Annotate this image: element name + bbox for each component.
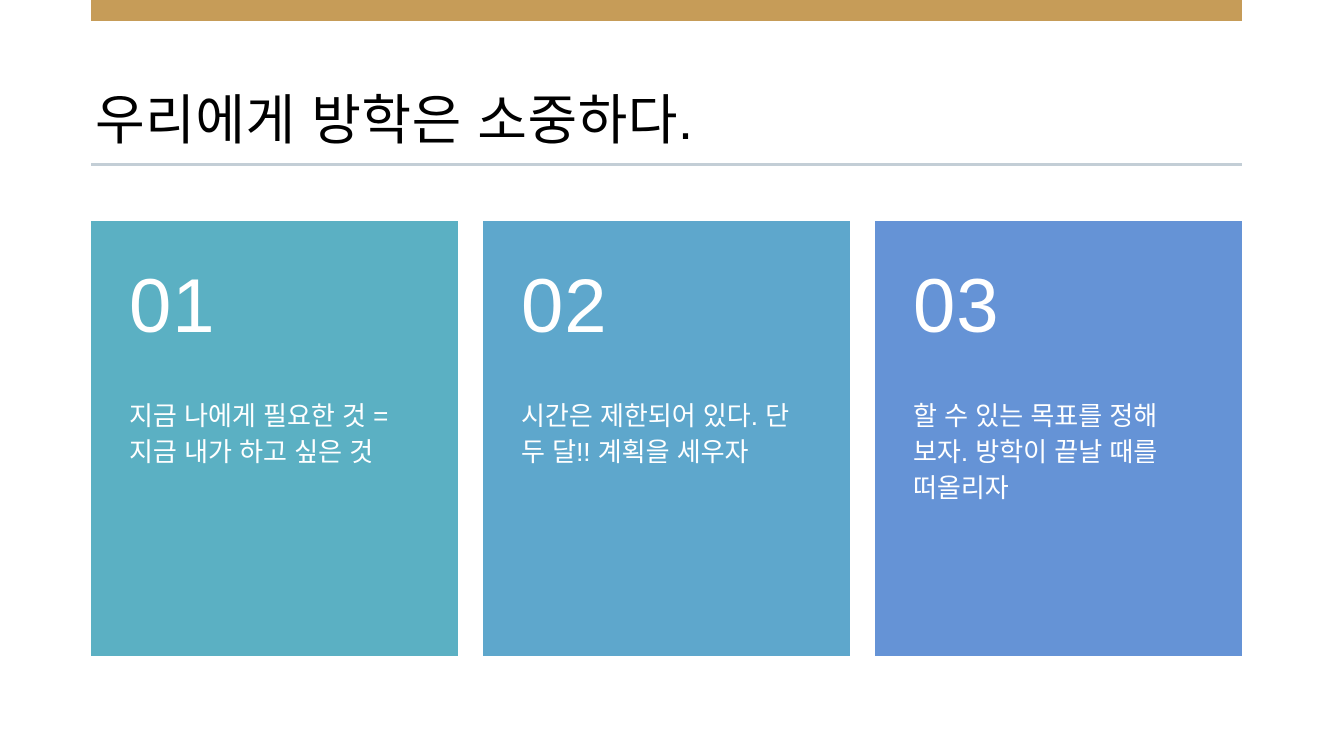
title-divider — [91, 163, 1242, 166]
card-text-01: 지금 나에게 필요한 것 = 지금 내가 하고 싶은 것 — [129, 398, 428, 470]
card-text-03: 할 수 있는 목표를 정해 보자. 방학이 끝날 때를 떠올리자 — [913, 398, 1212, 506]
presentation-slide: 우리에게 방학은 소중하다. 01 지금 나에게 필요한 것 = 지금 내가 하… — [0, 0, 1334, 750]
card-text-02: 시간은 제한되어 있다. 단 두 달!! 계획을 세우자 — [521, 398, 820, 470]
card-number-01: 01 — [129, 268, 428, 346]
top-accent-bar — [91, 0, 1242, 21]
content-card-02[interactable]: 02 시간은 제한되어 있다. 단 두 달!! 계획을 세우자 — [483, 221, 850, 656]
content-card-01[interactable]: 01 지금 나에게 필요한 것 = 지금 내가 하고 싶은 것 — [91, 221, 458, 656]
card-row: 01 지금 나에게 필요한 것 = 지금 내가 하고 싶은 것 02 시간은 제… — [91, 221, 1242, 656]
content-card-03[interactable]: 03 할 수 있는 목표를 정해 보자. 방학이 끝날 때를 떠올리자 — [875, 221, 1242, 656]
card-number-02: 02 — [521, 268, 820, 346]
card-number-03: 03 — [913, 268, 1212, 346]
page-title: 우리에게 방학은 소중하다. — [95, 88, 1245, 154]
